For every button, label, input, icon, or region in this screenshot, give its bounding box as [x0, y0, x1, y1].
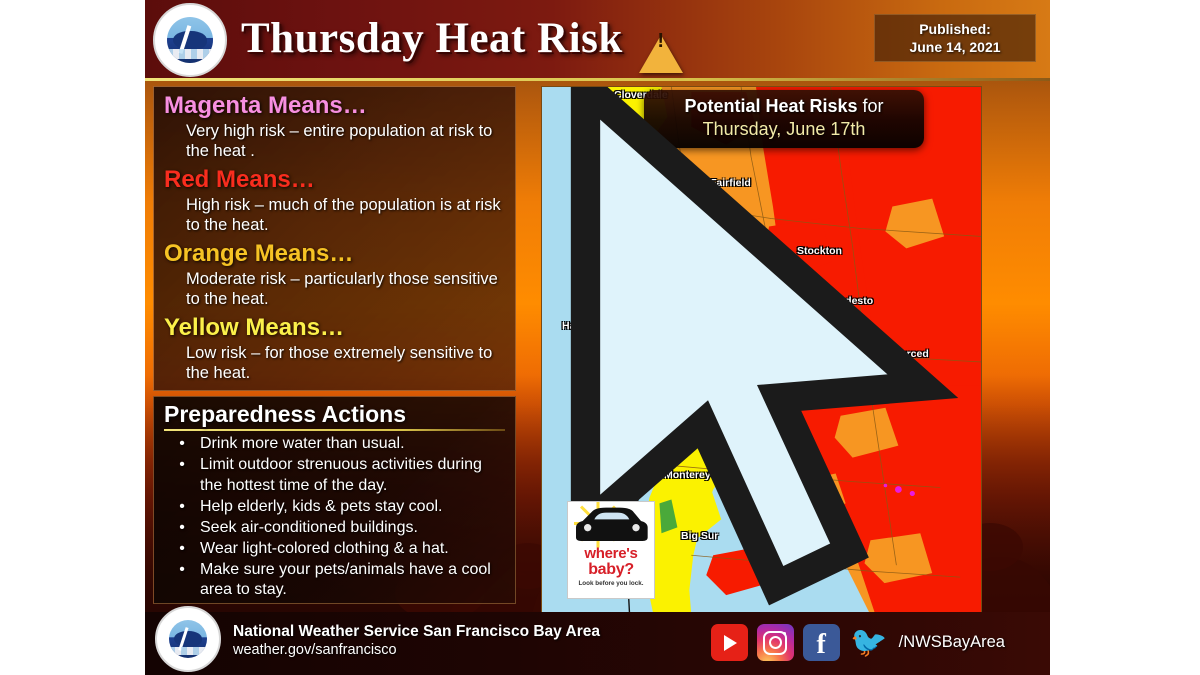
legend-body-yellow: Low risk – for those extremely sensitive… [186, 343, 505, 383]
header-bar: Thursday Heat Risk ! Published: June 14,… [145, 0, 1050, 81]
wheres-baby-artwork [570, 506, 652, 546]
list-item: • Make sure your pets/animals have a coo… [164, 560, 505, 601]
car-icon [570, 506, 652, 546]
wheres-baby-line1: where's [584, 546, 637, 561]
wheres-baby-tagline: Look before you lock. [578, 579, 643, 588]
list-item: • Help elderly, kids & pets stay cool. [164, 497, 505, 518]
list-item: • Limit outdoor strenuous activities dur… [164, 455, 505, 496]
screenshot-canvas: Thursday Heat Risk ! Published: June 14,… [0, 0, 1200, 675]
bullet-glyph: • [164, 539, 200, 560]
preparedness-panel: Preparedness Actions • Drink more water … [153, 396, 516, 604]
list-item-text: Limit outdoor strenuous activities durin… [200, 455, 505, 496]
legend-item-magenta: Magenta Means… Very high risk – entire p… [164, 91, 505, 161]
twitter-icon[interactable]: 🐦 [849, 624, 889, 661]
preparedness-divider [164, 429, 505, 431]
list-item-text: Make sure your pets/animals have a cool … [200, 560, 505, 601]
list-item-text: Drink more water than usual. [200, 434, 505, 455]
legend-item-red: Red Means… High risk – much of the popul… [164, 165, 505, 235]
list-item-text: Wear light-colored clothing & a hat. [200, 539, 505, 560]
legend-heading-red: Red Means… [164, 165, 505, 195]
heat-risk-map[interactable]: Cloverdale Santa Rosa Napa Fairfield San… [541, 86, 982, 616]
list-item: • Seek air-conditioned buildings. [164, 518, 505, 539]
wheres-baby-logo: where's baby? Look before you lock. [567, 501, 655, 599]
legend-heading-orange: Orange Means… [164, 239, 505, 269]
list-item-text: Seek air-conditioned buildings. [200, 518, 505, 539]
facebook-icon[interactable]: f [803, 624, 840, 661]
legend-body-magenta: Very high risk – entire population at ri… [186, 121, 505, 161]
legend-item-orange: Orange Means… Moderate risk – particular… [164, 239, 505, 309]
page-title: Thursday Heat Risk ! [241, 6, 683, 70]
header-underline [145, 78, 1050, 81]
list-item: • Drink more water than usual. [164, 434, 505, 455]
heat-risk-graphic: Thursday Heat Risk ! Published: June 14,… [145, 0, 1050, 675]
footer-text-block: National Weather Service San Francisco B… [233, 622, 600, 660]
bullet-glyph: • [164, 434, 200, 455]
published-label: Published: [919, 20, 991, 38]
published-date: June 14, 2021 [909, 38, 1000, 56]
footer-url: weather.gov/sanfrancisco [233, 641, 600, 660]
footer-organization: National Weather Service San Francisco B… [233, 622, 600, 641]
preparedness-list: • Drink more water than usual. • Limit o… [164, 434, 505, 601]
bullet-glyph: • [164, 560, 200, 601]
page-title-text: Thursday Heat Risk [241, 14, 623, 63]
legend-body-orange: Moderate risk – particularly those sensi… [186, 269, 505, 309]
list-item: • Wear light-colored clothing & a hat. [164, 539, 505, 560]
instagram-icon[interactable] [757, 624, 794, 661]
legend-item-yellow: Yellow Means… Low risk – for those extre… [164, 313, 505, 383]
nws-logo-icon [155, 606, 221, 672]
bullet-glyph: • [164, 497, 200, 518]
legend-panel: Magenta Means… Very high risk – entire p… [153, 86, 516, 391]
preparedness-title: Preparedness Actions [164, 400, 505, 428]
bullet-glyph: • [164, 518, 200, 539]
footer-bar: National Weather Service San Francisco B… [145, 612, 1050, 675]
warning-triangle-icon: ! [639, 18, 683, 58]
youtube-icon[interactable] [711, 624, 748, 661]
nws-logo-icon [153, 3, 227, 77]
published-badge: Published: June 14, 2021 [874, 14, 1036, 62]
legend-heading-magenta: Magenta Means… [164, 91, 505, 121]
social-handle: /NWSBayArea [899, 633, 1005, 652]
wheres-baby-line2: baby? [588, 561, 634, 578]
social-links: f 🐦 /NWSBayArea [711, 624, 1005, 661]
bullet-glyph: • [164, 455, 200, 496]
legend-body-red: High risk – much of the population is at… [186, 195, 505, 235]
list-item-text: Help elderly, kids & pets stay cool. [200, 497, 505, 518]
legend-heading-yellow: Yellow Means… [164, 313, 505, 343]
